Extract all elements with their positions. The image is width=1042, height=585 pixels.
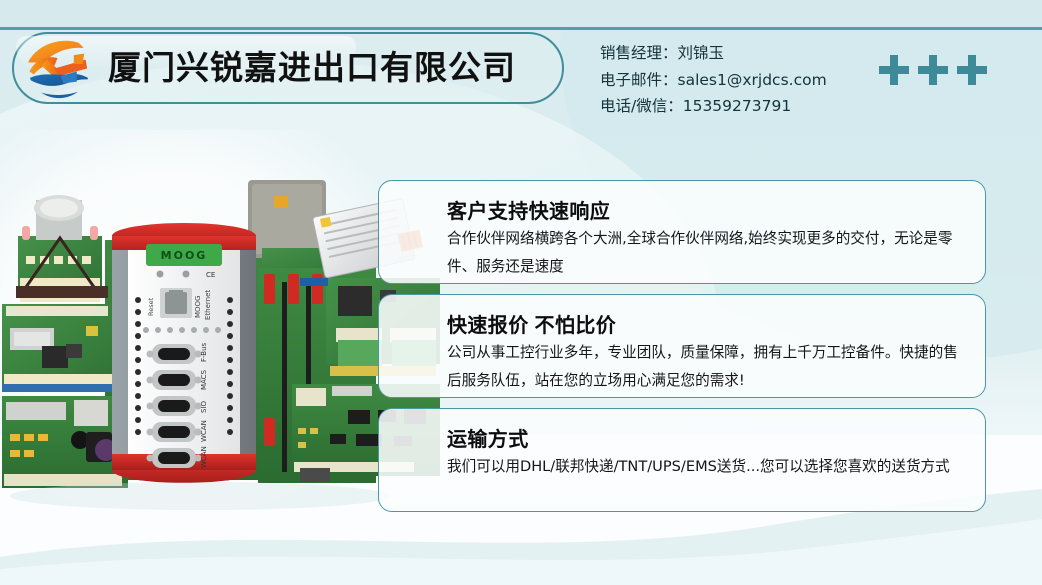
contact-phone: 电话/微信：15359273791 xyxy=(600,93,900,120)
card-title: 客户支持快速响应 xyxy=(447,195,610,224)
plus-icon xyxy=(879,55,909,85)
card-title: 快速报价 不怕比价 xyxy=(447,309,616,338)
product-photo-collage: MOOG CE Reset MOOG Ethernet xyxy=(0,178,440,518)
svg-text:WCAN: WCAN xyxy=(200,420,208,442)
company-name: 厦门兴锐嘉进出口有限公司 xyxy=(108,44,538,92)
background-top-band xyxy=(0,0,1042,27)
svg-text:CE: CE xyxy=(206,271,215,279)
svg-text:MACS: MACS xyxy=(200,369,208,390)
info-card-fast-quote[interactable]: 快速报价 不怕比价 公司从事工控行业多年，专业团队，质量保障，拥有上千万工控备件… xyxy=(378,294,986,398)
contact-email: 电子邮件：sales1@xrjdcs.com xyxy=(600,67,900,94)
svg-text:Ethernet: Ethernet xyxy=(204,290,212,320)
plus-icon xyxy=(918,55,948,85)
card-body: 我们可以用DHL/联邦快递/TNT/UPS/EMS送货...您可以选择您喜欢的送… xyxy=(447,453,971,481)
header-divider-line xyxy=(0,27,1042,30)
card-body: 合作伙伴网络横跨各个大洲,全球合作伙伴网络,始终实现更多的交付，无论是零件、服务… xyxy=(447,225,971,281)
svg-text:MOOG: MOOG xyxy=(161,249,208,262)
banner-root: 厦门兴锐嘉进出口有限公司 销售经理：刘锦玉 电子邮件：sales1@xrjdcs… xyxy=(0,0,1042,585)
svg-text:F-Bus: F-Bus xyxy=(200,342,208,362)
info-card-customer-support[interactable]: 客户支持快速响应 合作伙伴网络横跨各个大洲,全球合作伙伴网络,始终实现更多的交付… xyxy=(378,180,986,284)
plus-decoration-group xyxy=(879,55,989,95)
contact-manager: 销售经理：刘锦玉 xyxy=(600,40,900,67)
svg-text:WCAN: WCAN xyxy=(200,446,208,468)
svg-text:SIO: SIO xyxy=(200,400,208,413)
contact-block: 销售经理：刘锦玉 电子邮件：sales1@xrjdcs.com 电话/微信：15… xyxy=(600,40,900,120)
svg-text:Reset: Reset xyxy=(147,297,155,316)
plus-icon xyxy=(957,55,987,85)
card-title: 运输方式 xyxy=(447,423,529,452)
sun-wave-circle-logo-icon xyxy=(22,30,96,104)
svg-text:MOOG: MOOG xyxy=(194,296,202,318)
card-body: 公司从事工控行业多年，专业团队，质量保障，拥有上千万工控备件。快捷的售后服务队伍… xyxy=(447,339,971,395)
info-card-shipping[interactable]: 运输方式 我们可以用DHL/联邦快递/TNT/UPS/EMS送货...您可以选择… xyxy=(378,408,986,512)
